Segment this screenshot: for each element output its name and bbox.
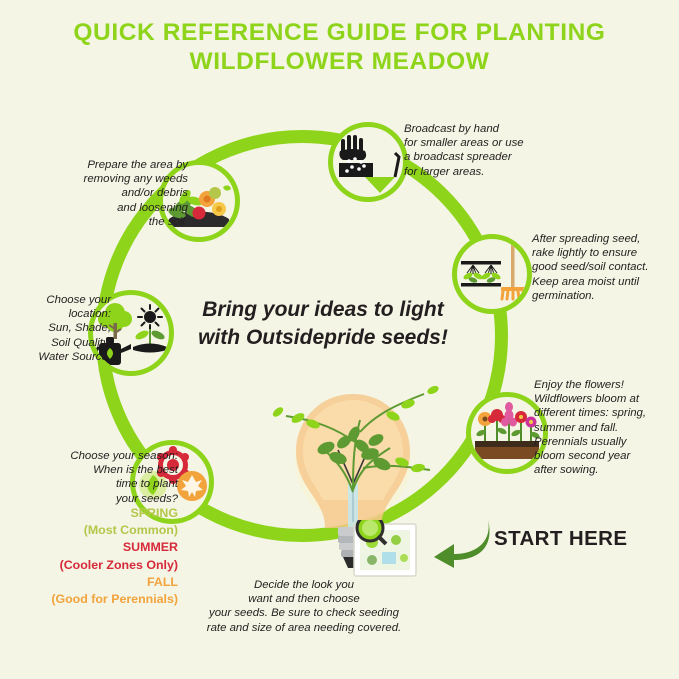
season-summer-note: (Cooler Zones Only) — [8, 557, 178, 574]
step-text-broadcast: Broadcast by hand for smaller areas or u… — [404, 122, 564, 179]
node-broadcast[interactable] — [328, 122, 408, 202]
season-fall-name: FALL — [8, 574, 178, 591]
title-line-1: QUICK REFERENCE GUIDE FOR PLANTING — [73, 19, 605, 46]
flower-tray-icon — [471, 397, 543, 469]
season-fall-note: (Good for Perennials) — [8, 591, 178, 608]
infographic-canvas: QUICK REFERENCE GUIDE FOR PLANTING WILDF… — [0, 0, 679, 679]
center-tagline: Bring your ideas to light with Outsidepr… — [168, 296, 478, 352]
page-title: QUICK REFERENCE GUIDE FOR PLANTING WILDF… — [0, 18, 679, 76]
season-legend: SPRING (Most Common) SUMMER (Cooler Zone… — [8, 505, 178, 608]
seed-packet-icon — [352, 520, 424, 580]
step-text-prepare: Prepare the area by removing any weeds a… — [48, 158, 188, 229]
curved-arrow-left-icon — [432, 518, 494, 568]
step-text-season: Choose your season: When is the best tim… — [8, 449, 178, 506]
start-here-label: START HERE — [494, 527, 627, 551]
title-line-2: WILDFLOWER MEADOW — [0, 47, 679, 76]
step-text-rake: After spreading seed, rake lightly to en… — [532, 232, 679, 303]
step-text-decide: Decide the look you want and then choose… — [196, 578, 412, 635]
season-summer-name: SUMMER — [8, 539, 178, 556]
hand-broadcast-spreader-icon — [333, 127, 403, 197]
season-spring-name: SPRING — [8, 505, 178, 522]
step-text-location: Choose your location: Sun, Shade, Soil Q… — [6, 293, 111, 364]
season-spring-note: (Most Common) — [8, 522, 178, 539]
step-text-bloom: Enjoy the flowers! Wildflowers bloom at … — [534, 378, 679, 477]
